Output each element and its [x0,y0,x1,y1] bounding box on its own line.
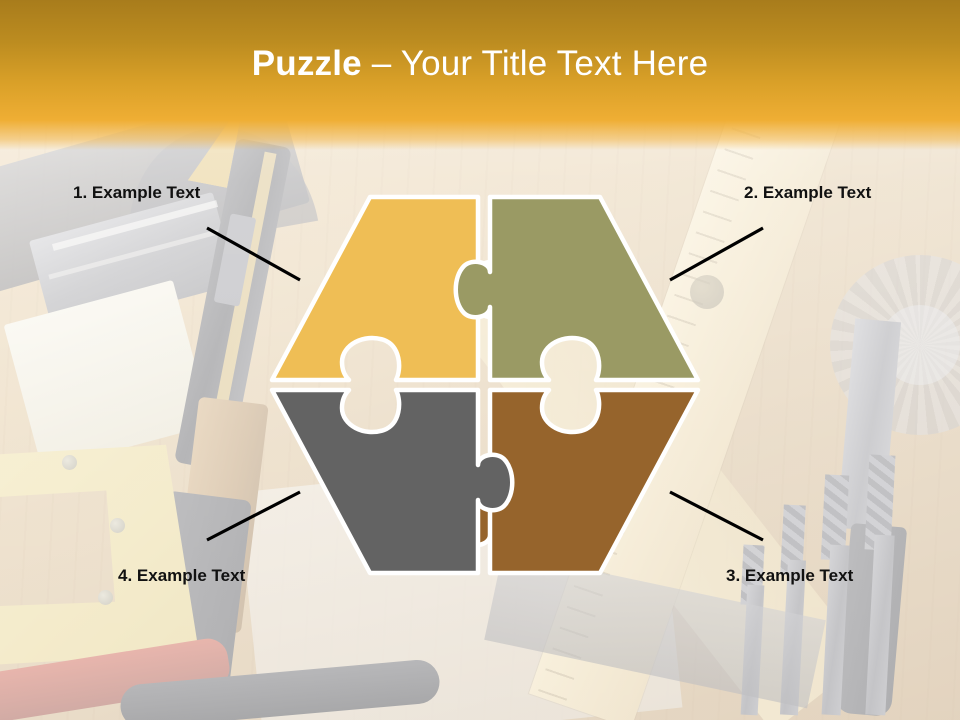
puzzle-svg [0,0,960,720]
connector-line-2 [670,228,763,280]
connector-line-4 [207,492,300,540]
puzzle-diagram [0,0,960,720]
callout-label-4[interactable]: 4. Example Text [118,566,245,586]
connector-line-1 [207,228,300,280]
slide-canvas: Puzzle – Your Title Text Here 1. Exam [0,0,960,720]
callout-label-3[interactable]: 3. Example Text [726,566,853,586]
puzzle-piece-top-right[interactable] [456,197,698,380]
connector-line-3 [670,492,763,540]
puzzle-piece-bottom-left[interactable] [272,390,512,573]
puzzle-pieces-group [272,197,698,573]
callout-label-1[interactable]: 1. Example Text [73,183,200,203]
callout-label-2[interactable]: 2. Example Text [744,183,871,203]
